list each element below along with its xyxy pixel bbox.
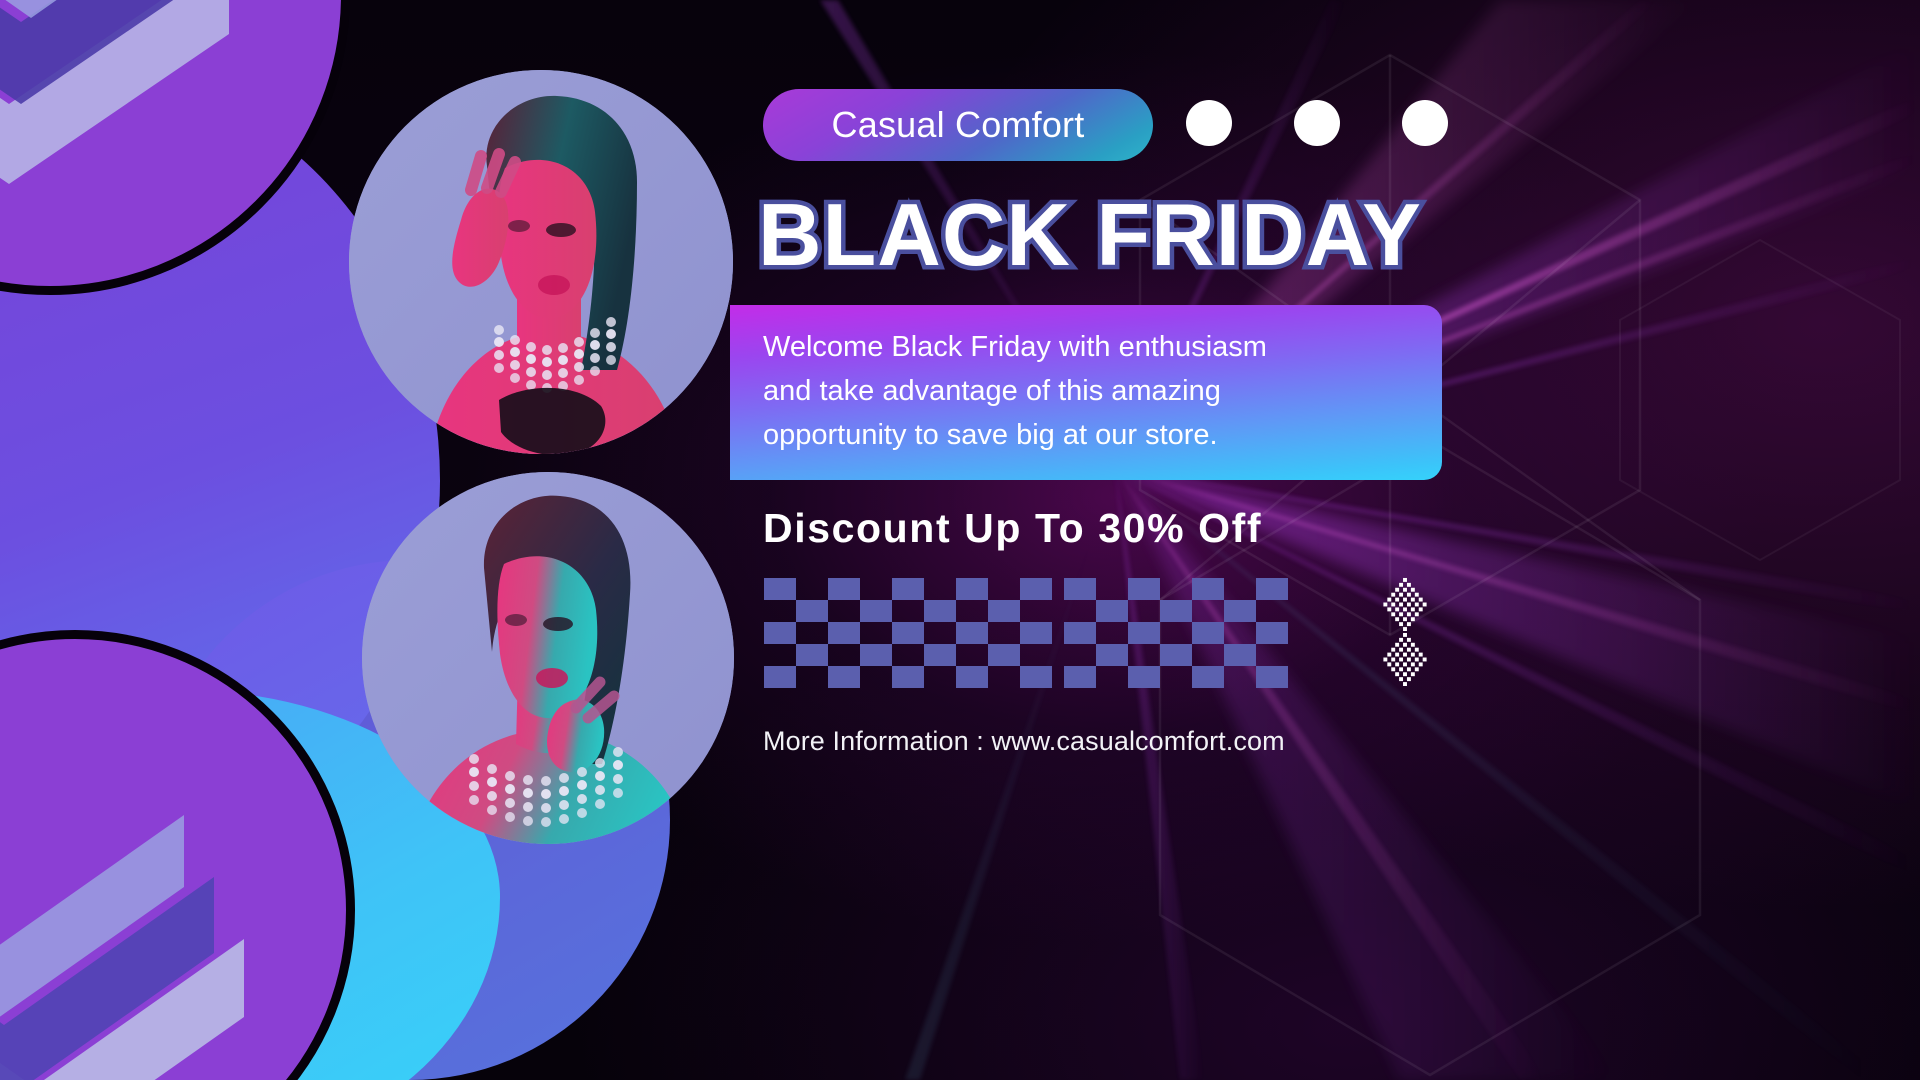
banner-root: Casual Comfort BLACK FRIDAY Welcome Blac… (0, 0, 1920, 1080)
body-text-line: Welcome Black Friday with enthusiasm (763, 325, 1383, 369)
body-text-line: opportunity to save big at our store. (763, 413, 1383, 457)
headline-title: BLACK FRIDAY (758, 184, 1458, 286)
brand-badge-label: Casual Comfort (832, 104, 1085, 146)
content-column: Casual Comfort BLACK FRIDAY Welcome Blac… (758, 0, 1878, 1080)
model-photo-bottom (362, 472, 734, 844)
discount-text: Discount Up To 30% Off (763, 505, 1262, 552)
decorative-circle-bottom-left (0, 630, 355, 1080)
chevron-arrow-icon (0, 815, 244, 1080)
decorative-circle-top-left (0, 0, 350, 295)
more-information-text[interactable]: More Information : www.casualcomfort.com (763, 726, 1285, 757)
dot-indicator (1186, 100, 1232, 146)
chevron-arrow-icon (0, 0, 229, 184)
checker-pattern-right (1064, 578, 1314, 688)
dot-indicator (1402, 100, 1448, 146)
brand-badge[interactable]: Casual Comfort (763, 89, 1153, 161)
body-text: Welcome Black Friday with enthusiasm and… (763, 325, 1383, 457)
dot-indicator (1294, 100, 1340, 146)
model-photo-top (349, 70, 733, 454)
diamond-dot-pattern (1370, 576, 1440, 686)
checker-pattern-left (764, 578, 1064, 688)
body-text-line: and take advantage of this amazing (763, 369, 1383, 413)
dot-indicator-group (1186, 100, 1448, 146)
